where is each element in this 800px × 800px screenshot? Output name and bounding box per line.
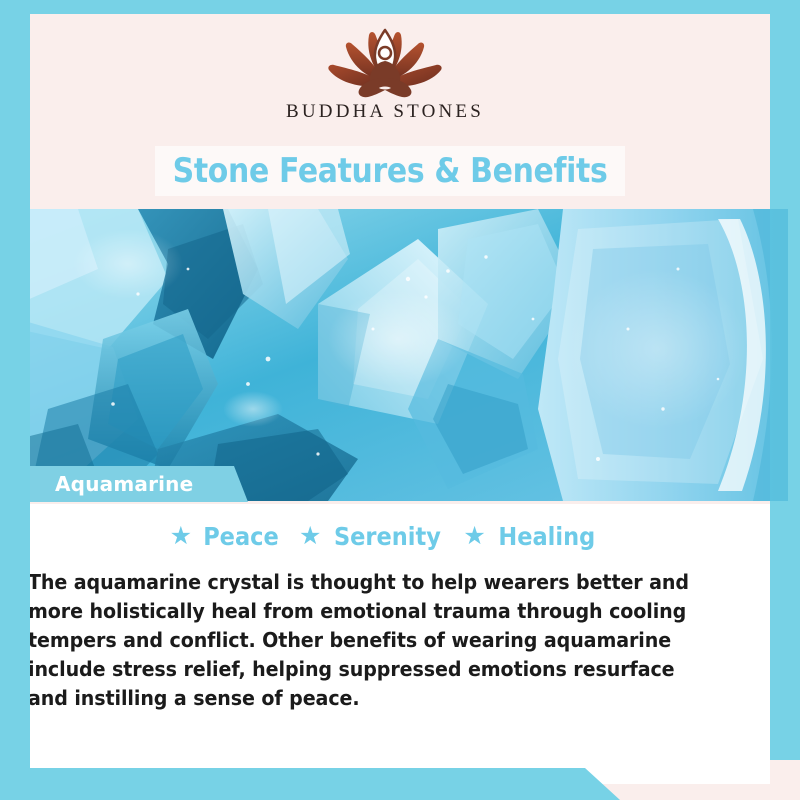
brand-header: BUDDHA STONES [0,14,770,144]
benefit-item-serenity: ★ Serenity [299,522,447,551]
frame-left-bar [0,0,30,800]
lotus-meditation-icon [310,22,460,100]
page-title: Stone Features & Benefits [173,151,608,191]
frame-top-bar [0,0,800,14]
section-title-banner: Stone Features & Benefits [155,146,625,196]
star-icon: ★ [170,524,192,549]
brand-name: BUDDHA STONES [286,101,484,123]
benefit-label: Healing [498,522,595,551]
benefits-row: ★ Peace ★ Serenity ★ Healing [0,516,770,556]
content-card: BUDDHA STONES Stone Features & Benefits [0,14,770,760]
star-icon: ★ [299,524,321,549]
description-text: The aquamarine crystal is thought to hel… [28,568,699,713]
frame-bottom-bar [0,768,620,800]
benefit-item-peace: ★ Peace [170,522,283,551]
stone-name-label: Aquamarine [0,466,248,502]
benefit-label: Serenity [334,522,441,551]
infographic-page: BUDDHA STONES Stone Features & Benefits [0,0,800,800]
stone-name-text: Aquamarine [55,472,193,496]
hero-image [18,209,788,501]
benefit-label: Peace [203,522,279,551]
benefit-item-healing: ★ Healing [463,522,600,551]
star-icon: ★ [463,524,485,549]
